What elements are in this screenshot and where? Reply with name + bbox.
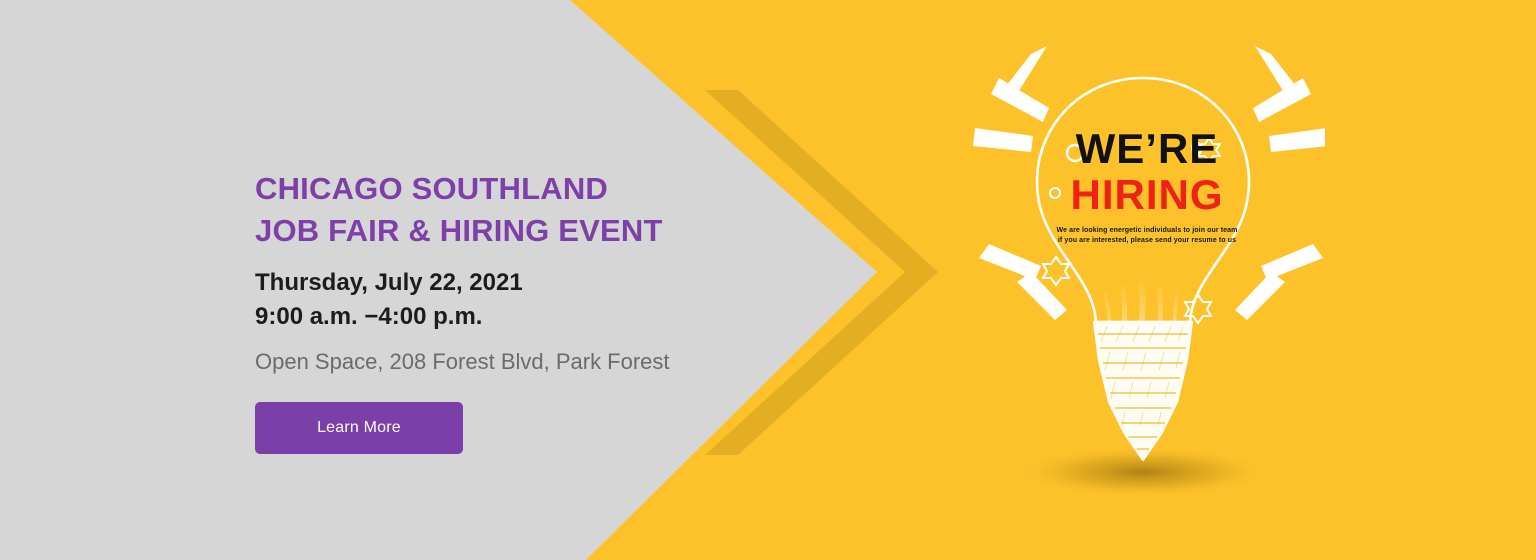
event-time: 9:00 a.m. −4:00 p.m. bbox=[255, 303, 482, 330]
sparkle-decorations bbox=[1043, 138, 1220, 323]
banner-content: CHICAGO SOUTHLAND JOB FAIR & HIRING EVEN… bbox=[255, 168, 775, 454]
event-datetime: Thursday, July 22, 2021 9:00 a.m. −4:00 … bbox=[255, 252, 775, 334]
job-fair-banner: CHICAGO SOUTHLAND JOB FAIR & HIRING EVEN… bbox=[0, 0, 1536, 560]
event-venue: Open Space, 208 Forest Blvd, Park Forest bbox=[255, 334, 775, 376]
light-rays bbox=[973, 46, 1325, 320]
page-title: CHICAGO SOUTHLAND JOB FAIR & HIRING EVEN… bbox=[255, 168, 775, 252]
bulb-screw-base bbox=[1094, 322, 1192, 460]
headline-line-2: JOB FAIR & HIRING EVENT bbox=[255, 213, 663, 248]
lightbulb-illustration bbox=[955, 30, 1325, 530]
headline-line-1: CHICAGO SOUTHLAND bbox=[255, 171, 608, 206]
learn-more-button[interactable]: Learn More bbox=[255, 402, 463, 454]
event-date: Thursday, July 22, 2021 bbox=[255, 269, 523, 296]
